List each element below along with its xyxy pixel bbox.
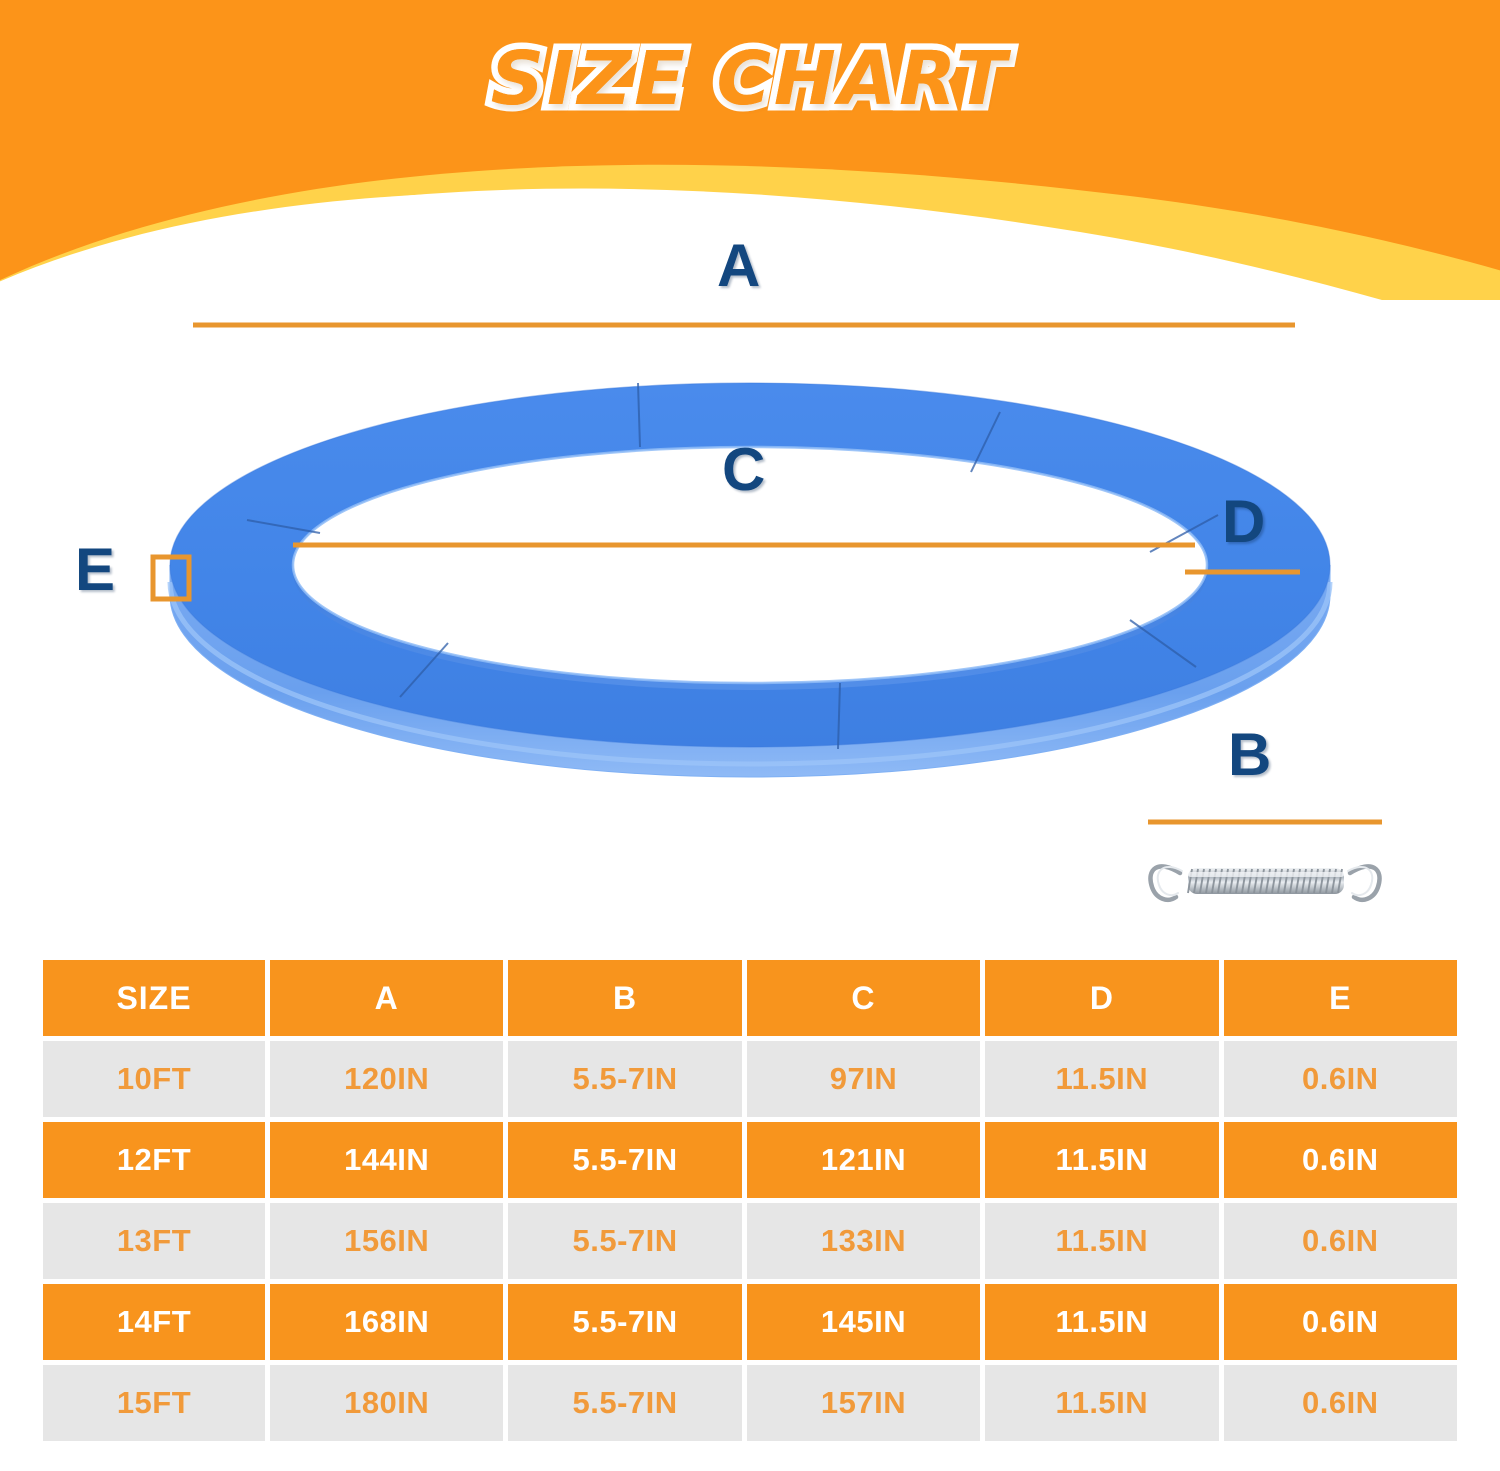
cell-d: 11.5IN [985, 1203, 1218, 1279]
cell-size: 14FT [43, 1284, 265, 1360]
table-row: 13FT 156IN 5.5-7IN 133IN 11.5IN 0.6IN [43, 1203, 1457, 1279]
cell-b: 5.5-7IN [508, 1122, 741, 1198]
cell-size: 13FT [43, 1203, 265, 1279]
cell-c: 133IN [747, 1203, 980, 1279]
cell-b: 5.5-7IN [508, 1041, 741, 1117]
cell-a: 156IN [270, 1203, 503, 1279]
table-row: 15FT 180IN 5.5-7IN 157IN 11.5IN 0.6IN [43, 1365, 1457, 1441]
cell-c: 157IN [747, 1365, 980, 1441]
col-header-c: C [747, 960, 980, 1036]
cell-a: 120IN [270, 1041, 503, 1117]
cell-b: 5.5-7IN [508, 1284, 741, 1360]
dimension-label-d: D [1222, 492, 1265, 552]
col-header-size: SIZE [43, 960, 265, 1036]
cell-b: 5.5-7IN [508, 1203, 741, 1279]
cell-a: 180IN [270, 1365, 503, 1441]
cell-d: 11.5IN [985, 1365, 1218, 1441]
dimension-label-c: C [722, 440, 765, 500]
table-header-row: SIZE A B C D E [43, 960, 1457, 1036]
table-row: 12FT 144IN 5.5-7IN 121IN 11.5IN 0.6IN [43, 1122, 1457, 1198]
cell-e: 0.6IN [1224, 1041, 1457, 1117]
product-diagram: A C D E B [0, 200, 1500, 940]
cell-c: 97IN [747, 1041, 980, 1117]
col-header-e: E [1224, 960, 1457, 1036]
size-chart-page: SIZE CHART SIZE CHART [0, 0, 1500, 1471]
page-title-fill: SIZE CHART [0, 36, 1500, 122]
col-header-d: D [985, 960, 1218, 1036]
dimension-label-b: B [1228, 725, 1271, 785]
cell-d: 11.5IN [985, 1041, 1218, 1117]
cell-e: 0.6IN [1224, 1122, 1457, 1198]
dimension-label-a: A [717, 236, 760, 296]
cell-e: 0.6IN [1224, 1365, 1457, 1441]
cell-b: 5.5-7IN [508, 1365, 741, 1441]
cell-c: 145IN [747, 1284, 980, 1360]
trampoline-spring [1150, 866, 1379, 899]
cell-c: 121IN [747, 1122, 980, 1198]
dimension-label-e: E [75, 540, 115, 600]
trampoline-pad-illustration [0, 200, 1500, 940]
cell-e: 0.6IN [1224, 1284, 1457, 1360]
size-table: SIZE A B C D E 10FT 120IN 5.5-7IN 97IN 1… [38, 955, 1462, 1446]
col-header-a: A [270, 960, 503, 1036]
cell-a: 168IN [270, 1284, 503, 1360]
col-header-b: B [508, 960, 741, 1036]
table-row: 14FT 168IN 5.5-7IN 145IN 11.5IN 0.6IN [43, 1284, 1457, 1360]
cell-size: 12FT [43, 1122, 265, 1198]
cell-d: 11.5IN [985, 1122, 1218, 1198]
cell-a: 144IN [270, 1122, 503, 1198]
table-row: 10FT 120IN 5.5-7IN 97IN 11.5IN 0.6IN [43, 1041, 1457, 1117]
cell-size: 15FT [43, 1365, 265, 1441]
cell-d: 11.5IN [985, 1284, 1218, 1360]
cell-size: 10FT [43, 1041, 265, 1117]
cell-e: 0.6IN [1224, 1203, 1457, 1279]
